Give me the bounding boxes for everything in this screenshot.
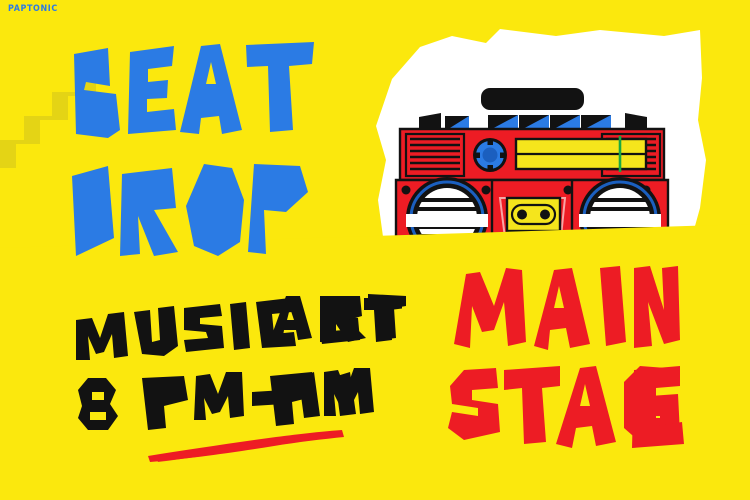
screw-top-mid-left bbox=[482, 186, 491, 195]
schedule-time-tail bbox=[268, 366, 393, 426]
carry-handle bbox=[481, 88, 584, 110]
tuner-display bbox=[516, 136, 646, 172]
cassette-reel-right bbox=[540, 210, 550, 220]
volume-knob bbox=[473, 138, 507, 172]
cassette-deck bbox=[507, 198, 560, 231]
schedule-label-tail bbox=[256, 294, 406, 354]
cassette-reel-left bbox=[517, 210, 527, 220]
headline-beat: BEAT bbox=[70, 42, 320, 172]
headline-drop: DROP bbox=[68, 158, 308, 268]
brand-logo: PAPTONIC bbox=[8, 3, 58, 13]
vent-grille-left bbox=[406, 134, 464, 176]
schedule-underline bbox=[146, 428, 346, 462]
stage-stage-tail bbox=[630, 364, 686, 456]
stage-main: MAIN bbox=[450, 266, 680, 358]
poster-canvas: PAPTONIC BEAT DROP MUSIC START bbox=[0, 0, 750, 500]
screw-top-left bbox=[402, 186, 411, 195]
